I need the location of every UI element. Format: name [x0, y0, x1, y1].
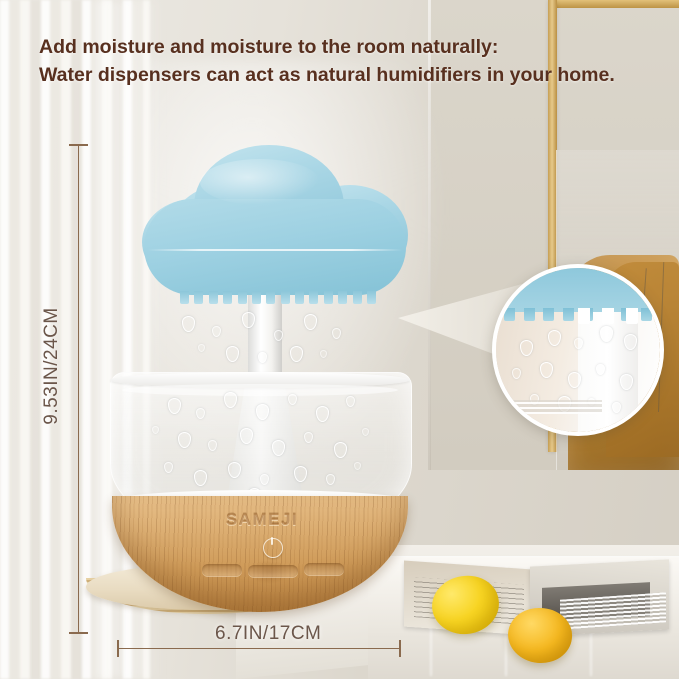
- width-dimension-label: 6.7IN/17CM: [215, 623, 321, 645]
- width-dimension-cap-right: [399, 640, 401, 657]
- raindrop: [332, 328, 341, 339]
- raindrop: [226, 346, 239, 362]
- magnifier-inset: [492, 264, 664, 436]
- product-image: SAMEJI 9.53: [0, 0, 679, 679]
- raindrop: [320, 350, 327, 358]
- control-slot[interactable]: [202, 564, 242, 576]
- brand-logo: SAMEJI: [214, 510, 310, 530]
- width-dimension-cap-left: [117, 640, 119, 657]
- cloud-lid: [142, 145, 408, 305]
- height-dimension-line: [78, 145, 79, 633]
- width-dimension-line: [118, 648, 400, 649]
- height-dimension-label: 9.53IN/24CM: [41, 296, 63, 436]
- raindrop: [304, 314, 317, 330]
- control-slot[interactable]: [304, 563, 344, 575]
- inset-column-teeth: [578, 308, 638, 324]
- raindrop: [290, 346, 303, 362]
- height-dimension-cap-bottom: [69, 632, 88, 634]
- cloud-highlight: [200, 159, 320, 205]
- tank-inner-rim: [122, 384, 398, 396]
- power-icon[interactable]: [263, 538, 283, 558]
- cloud-seam: [148, 249, 402, 251]
- cloud-humidifier: SAMEJI: [108, 140, 413, 580]
- height-dimension-cap-top: [69, 144, 88, 146]
- cloud-drip-teeth: [180, 291, 376, 304]
- headline-line-1: Add moisture and moisture to the room na…: [39, 33, 649, 61]
- headline: Add moisture and moisture to the room na…: [39, 33, 649, 89]
- cloud-body: [144, 199, 406, 295]
- raindrop: [182, 316, 195, 332]
- headline-line-2: Water dispensers can act as natural humi…: [39, 61, 649, 89]
- door-frame-top: [548, 0, 679, 8]
- raindrop: [198, 344, 205, 352]
- inset-tank-rim: [502, 400, 602, 414]
- inset-cloud-edge: [496, 268, 660, 312]
- control-slot[interactable]: [248, 565, 298, 577]
- raindrop: [212, 326, 221, 337]
